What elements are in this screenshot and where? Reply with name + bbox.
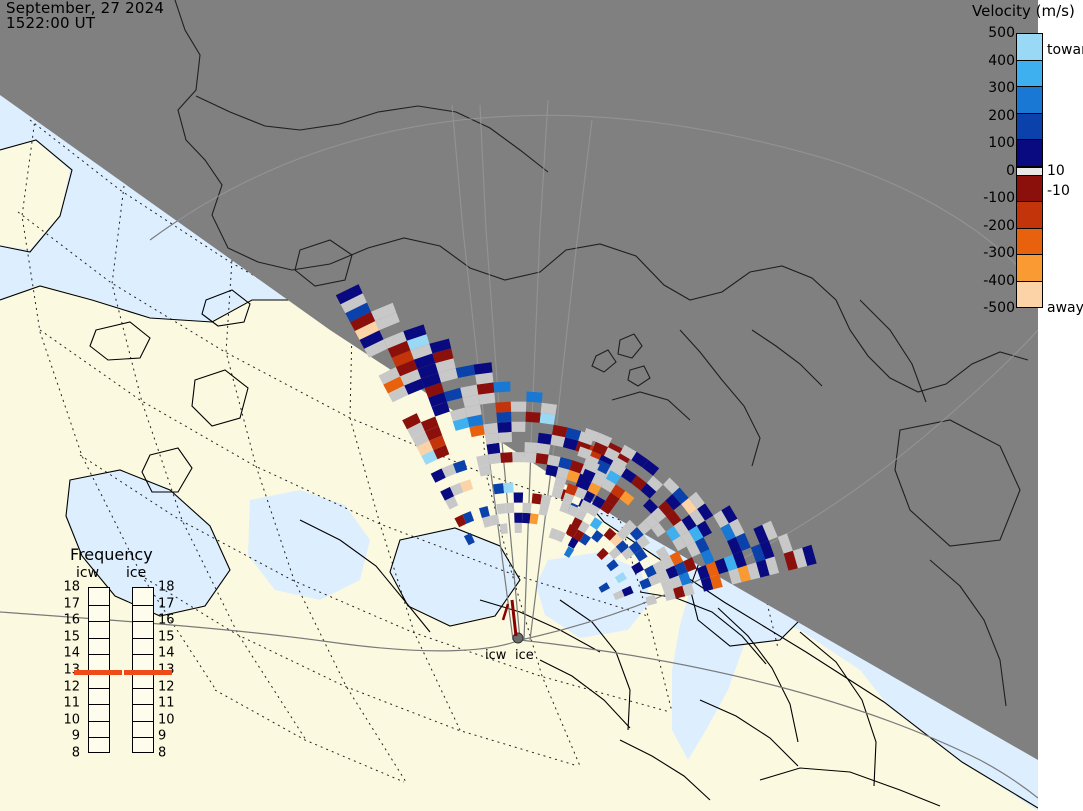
frequency-segment (89, 654, 109, 655)
frequency-segment (133, 721, 153, 722)
colorbar-tick--200: -200 (983, 218, 1015, 234)
frequency-segment (89, 721, 109, 722)
frequency-tick-right-15: 15 (158, 629, 175, 644)
frequency-tick-left-14: 14 (63, 646, 80, 661)
colorbar-band-450 (1017, 34, 1042, 61)
colorbar-band--250 (1017, 229, 1042, 256)
frequency-tick-right-12: 12 (158, 679, 175, 694)
frequency-tick-left-10: 10 (63, 712, 80, 727)
radar-cell (495, 402, 511, 413)
frequency-segment (89, 704, 109, 705)
colorbar-band-150 (1017, 114, 1042, 141)
radar-cell (500, 452, 512, 463)
frequency-segment (89, 621, 109, 622)
timestamp-time: 1522:00 UT (6, 16, 164, 31)
radar-cell (493, 381, 510, 392)
radar-cell (488, 453, 501, 465)
frequency-tick-right-17: 17 (158, 596, 175, 611)
colorbar-tick-0: 0 (1006, 163, 1015, 179)
radar-cell (496, 503, 506, 514)
colorbar-band--450 (1017, 282, 1042, 308)
radar-cell (485, 433, 499, 445)
frequency-tick-left-11: 11 (63, 696, 80, 711)
frequency-segment (133, 704, 153, 705)
colorbar-tick--300: -300 (983, 245, 1015, 261)
radar-cell (511, 402, 527, 412)
radar-cell (483, 423, 498, 435)
colorbar-tick-100: 100 (988, 135, 1015, 151)
frequency-title: Frequency (70, 545, 153, 564)
frequency-tick-left-18: 18 (63, 580, 80, 595)
frequency-marker-icw (74, 670, 122, 675)
radar-cell (487, 443, 501, 455)
colorbar-tick-300: 300 (988, 80, 1015, 96)
colorbar-toward-label: toward (1047, 42, 1083, 58)
colorbar-tick--400: -400 (983, 273, 1015, 289)
radar-cell (537, 443, 551, 455)
frequency-tick-left-9: 9 (72, 729, 80, 744)
colorbar-band-250 (1017, 87, 1042, 114)
radar-cell (515, 523, 523, 533)
frequency-tick-left-17: 17 (63, 596, 80, 611)
radar-cell (526, 392, 542, 403)
colorbar-tick--500: -500 (983, 300, 1015, 316)
timestamp-overlay: September, 27 2024 1522:00 UT (6, 1, 164, 31)
radar-cell (478, 393, 495, 405)
radar-cell (540, 413, 556, 425)
frequency-tick-right-9: 9 (158, 729, 166, 744)
frequency-segment (133, 621, 153, 622)
frequency-segment (133, 688, 153, 689)
frequency-tick-right-18: 18 (158, 580, 175, 595)
radar-cell (538, 433, 552, 445)
colorbar-away-label: away (1047, 300, 1083, 316)
radar-cell (496, 412, 511, 423)
frequency-segment (89, 605, 109, 606)
radar-cell (514, 513, 522, 523)
radar-cell (541, 403, 557, 415)
radar-cell (524, 452, 537, 463)
colorbar-tick-500: 500 (988, 25, 1015, 41)
radar-cell (525, 442, 538, 453)
radar-cell (522, 503, 531, 514)
frequency-tick-left-12: 12 (63, 679, 80, 694)
colorbar-band-0 (1017, 167, 1042, 176)
frequency-segment (89, 737, 109, 738)
frequency-segment (133, 737, 153, 738)
frequency-tick-right-10: 10 (158, 712, 175, 727)
frequency-column-name-ice: ice (126, 565, 146, 581)
colorbar-title: Velocity (m/s) (972, 2, 1075, 20)
frequency-tick-left-15: 15 (63, 629, 80, 644)
radar-cell (505, 503, 514, 514)
colorbar-tick-200: 200 (988, 108, 1015, 124)
radar-cell (526, 412, 541, 423)
colorbar-gradient (1016, 33, 1043, 308)
frequency-segment (133, 605, 153, 606)
radar-cell (498, 432, 512, 443)
frequency-segment (89, 638, 109, 639)
frequency-tick-right-14: 14 (158, 646, 175, 661)
frequency-segment (133, 638, 153, 639)
radar-cell (514, 493, 524, 503)
colorbar-band--350 (1017, 255, 1042, 282)
colorbar-inner-high-label: 10 (1047, 163, 1065, 179)
radar-cell (511, 422, 525, 432)
colorbar-inner-low-label: -10 (1047, 183, 1070, 199)
frequency-tick-left-8: 8 (72, 746, 80, 761)
velocity-colorbar-panel: Velocity (m/s) 5004003002001000-100-200-… (963, 0, 1083, 340)
colorbar-tick--100: -100 (983, 190, 1015, 206)
colorbar-band--150 (1017, 202, 1042, 229)
frequency-tick-right-11: 11 (158, 696, 175, 711)
frequency-legend-panel: Frequency icw ice 1818171716161515141413… (52, 545, 192, 790)
frequency-marker-ice (124, 670, 172, 675)
colorbar-tick-400: 400 (988, 53, 1015, 69)
site-label-icw: icw (485, 648, 506, 663)
frequency-tick-left-16: 16 (63, 613, 80, 628)
radar-map-page: September, 27 2024 1522:00 UT icw ice Ve… (0, 0, 1083, 811)
frequency-tick-right-8: 8 (158, 746, 166, 761)
frequency-tick-right-16: 16 (158, 613, 175, 628)
radar-cell (497, 422, 511, 433)
radar-cell (532, 493, 542, 504)
colorbar-band-350 (1017, 61, 1042, 88)
site-label-ice: ice (515, 648, 534, 663)
radar-cell (512, 452, 524, 462)
radar-cell (493, 483, 504, 494)
frequency-segment (133, 654, 153, 655)
radar-cell (522, 513, 531, 524)
colorbar-band--55 (1017, 176, 1042, 203)
radar-cell (503, 482, 513, 493)
colorbar-band-55 (1017, 140, 1042, 167)
frequency-segment (89, 688, 109, 689)
radar-cell (536, 453, 549, 465)
